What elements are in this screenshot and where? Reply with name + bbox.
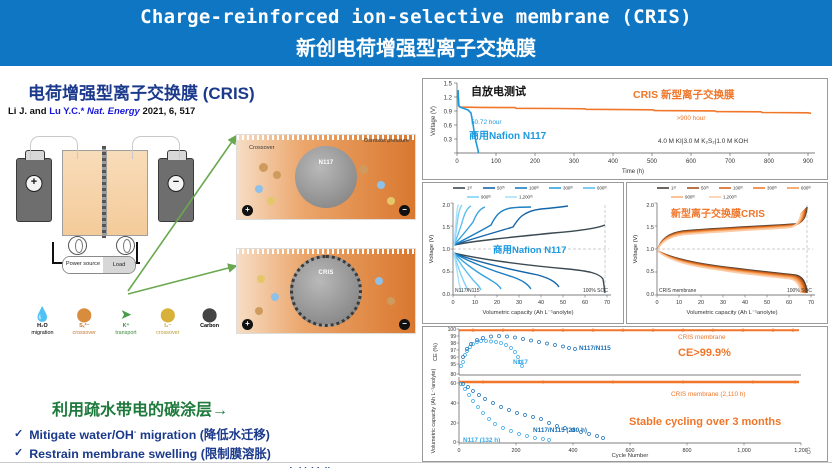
arrow-to-cris: [128, 266, 236, 294]
svg-text:2.0: 2.0: [442, 203, 450, 209]
corner-label: N117/N115: [455, 288, 480, 294]
svg-text:0: 0: [655, 300, 658, 306]
svg-text:50ᵗʰ: 50ᵗʰ: [497, 186, 505, 191]
self-discharge-title: 自放电测试: [471, 84, 526, 98]
left-column: 电荷增强型离子交换膜 (CRIS) Li J. and Lu Y.C.* Nat…: [0, 66, 418, 468]
list-item: ✓ Mitigate water/OH- migration (降低水迁移): [14, 426, 414, 445]
polysulfide-icon: ⬤: [68, 306, 101, 323]
svg-text:70: 70: [604, 300, 610, 306]
soc-label: 100% SOC: [787, 288, 812, 294]
ion-particle: [271, 293, 279, 301]
negative-marker: −: [399, 319, 410, 330]
chart-title-n117: 商用Nafion N117: [493, 244, 566, 256]
svg-text:99: 99: [450, 334, 456, 340]
ion-particle: [259, 163, 268, 172]
n117n115-capacity-label: N117/N115 (280 h): [533, 427, 587, 434]
y-axis-label: Voltage (V): [431, 106, 437, 136]
svg-text:96: 96: [450, 355, 456, 361]
bullet-text: Mitigate water/OH- migration (降低水迁移): [29, 426, 270, 445]
svg-text:100ᵗʰ: 100ᵗʰ: [529, 186, 539, 191]
legend-label-2: crossover: [156, 330, 179, 336]
positive-sign: +: [26, 175, 43, 192]
check-icon: ✓: [14, 426, 23, 443]
ion-particle: [255, 307, 263, 315]
svg-text:97: 97: [450, 348, 456, 354]
svg-text:0: 0: [455, 159, 459, 165]
y-axis-label: Voltage (V): [633, 235, 639, 264]
svg-text:70: 70: [808, 300, 814, 306]
svg-text:95: 95: [450, 362, 456, 368]
svg-text:400: 400: [569, 448, 578, 454]
positive-marker: +: [242, 319, 253, 330]
svg-text:900: 900: [803, 159, 814, 165]
chart-charge-discharge-n117: 2.01.51.0 0.50.0 01020 304050: [422, 182, 624, 324]
ion-particle: [257, 275, 265, 283]
stable-cycling-label: Stable cycling over 3 months: [629, 416, 781, 428]
svg-text:60: 60: [582, 300, 588, 306]
n117-capacity-label: N117 (132 h): [463, 437, 500, 444]
svg-text:20: 20: [450, 421, 456, 427]
n117-ce-label: N117: [513, 359, 528, 366]
svg-text:10: 10: [472, 300, 478, 306]
svg-text:0.0: 0.0: [646, 292, 654, 298]
svg-text:600: 600: [686, 159, 697, 165]
svg-text:1ˢᵗ: 1ˢᵗ: [467, 186, 472, 191]
legend-label-2: migration: [31, 330, 53, 336]
svg-text:30: 30: [720, 300, 726, 306]
svg-text:0.6: 0.6: [444, 124, 453, 130]
membrane-label: N117: [319, 160, 334, 166]
svg-text:0.5: 0.5: [646, 269, 654, 275]
wire-left-v: [52, 242, 54, 264]
svg-text:200: 200: [530, 159, 541, 165]
y-axis-label-capacity: Volumetric capacity (Ah L⁻¹anolyte): [431, 368, 437, 453]
svg-text:1,200ᵗʰ: 1,200ᵗʰ: [723, 195, 737, 200]
cris-label: CRIS 新型离子交换膜: [633, 88, 735, 101]
svg-text:2.0: 2.0: [646, 203, 654, 209]
svg-text:800: 800: [683, 448, 692, 454]
n117n115-ce-label: N117/N115: [579, 345, 611, 352]
svg-text:500: 500: [647, 159, 658, 165]
slide: Charge-reinforced ion-selective membrane…: [0, 0, 832, 468]
svg-text:20: 20: [494, 300, 500, 306]
electrolyte-label: 4.0 M KI|3.0 M K₂S₂|1.0 M KOH: [658, 138, 748, 145]
legend-label-2: transport: [115, 330, 136, 336]
svg-text:400: 400: [608, 159, 619, 165]
svg-text:300ᵗʰ: 300ᵗʰ: [767, 186, 777, 191]
legend-item-h2o: 💧 H₂O migration: [26, 306, 59, 337]
membrane-disc-cris: CRIS: [290, 255, 362, 327]
svg-text:0.5: 0.5: [442, 269, 450, 275]
legend: 1ˢᵗ 50ᵗʰ 100ᵗʰ 300ᵗʰ 600ᵗʰ 900ᵗʰ 1,200ᵗʰ: [453, 186, 607, 200]
membrane-disc-n117: N117: [295, 146, 357, 208]
micrograph-n117: N117 Crossover Osmosis pressure + −: [236, 134, 416, 220]
svg-text:0: 0: [458, 448, 461, 454]
svg-text:1.0: 1.0: [442, 247, 450, 253]
svg-text:40: 40: [538, 300, 544, 306]
ce-value: CE>99.9%: [678, 347, 731, 359]
citation-rest: 2021, 6, 517: [140, 106, 195, 117]
power-source-label: Power source: [63, 257, 103, 273]
anolyte-tank: +: [16, 158, 52, 222]
corner-label: CRIS membrane: [659, 288, 696, 294]
cd-cris-svg: 2.01.51.0 0.50.0 01020 304050: [627, 183, 825, 321]
svg-text:1ˢᵗ: 1ˢᵗ: [671, 186, 676, 191]
svg-text:1.0: 1.0: [646, 247, 654, 253]
legend: 1ˢᵗ 50ᵗʰ 100ᵗʰ 300ᵗʰ 600ᵗʰ 900ᵗʰ 1,200ᵗʰ: [657, 186, 811, 200]
right-column: 1.51.2 0.90.60.3 0100200 300400500 60070…: [422, 70, 826, 462]
svg-text:200: 200: [512, 448, 521, 454]
negative-marker: −: [399, 205, 410, 216]
nafion-hours: 50.72 hour: [471, 119, 502, 126]
y-axis-label: Voltage (V): [429, 235, 435, 264]
bullet-text: Facilitate full conversion of active spe…: [29, 465, 338, 468]
svg-text:900ᵗʰ: 900ᵗʰ: [685, 195, 695, 200]
svg-text:0.9: 0.9: [444, 110, 453, 116]
svg-text:50: 50: [764, 300, 770, 306]
legend-label-2: crossover: [73, 330, 96, 336]
svg-text:300ᵗʰ: 300ᵗʰ: [563, 186, 573, 191]
y-axis-label-ce: CE (%): [433, 343, 439, 361]
svg-text:700: 700: [725, 159, 736, 165]
svg-text:0.0: 0.0: [442, 292, 450, 298]
svg-text:100: 100: [491, 159, 502, 165]
osmosis-wave: [237, 249, 415, 254]
svg-text:100: 100: [448, 327, 457, 333]
ion-particle: [375, 277, 383, 285]
svg-text:60: 60: [450, 381, 456, 387]
svg-text:50: 50: [560, 300, 566, 306]
positive-marker: +: [242, 205, 253, 216]
x-axis-label: Time (h): [622, 169, 644, 175]
svg-text:0: 0: [451, 300, 454, 306]
membrane-label: CRIS: [318, 270, 333, 276]
svg-text:98: 98: [450, 341, 456, 347]
page-title-en: Charge-reinforced ion-selective membrane…: [0, 6, 832, 28]
svg-text:300: 300: [569, 159, 580, 165]
svg-text:1,200ᵗʰ: 1,200ᵗʰ: [519, 195, 533, 200]
arrow-group: [118, 126, 248, 326]
svg-text:40: 40: [742, 300, 748, 306]
svg-text:1.5: 1.5: [444, 82, 453, 88]
svg-text:80: 80: [450, 372, 456, 378]
cris-capacity-label: CRIS membrane (2,110 h): [671, 391, 745, 398]
bottom-divider: [0, 462, 832, 463]
svg-text:1.5: 1.5: [646, 225, 654, 231]
svg-text:40: 40: [450, 401, 456, 407]
svg-text:60: 60: [786, 300, 792, 306]
svg-text:1,000: 1,000: [737, 448, 751, 454]
svg-text:600ᵗʰ: 600ᵗʰ: [801, 186, 811, 191]
legend-item-sx: ⬤ Sₓ²⁻ crossover: [68, 306, 101, 337]
svg-text:10: 10: [676, 300, 682, 306]
micrograph-cris: CRIS + −: [236, 248, 416, 334]
svg-text:1.5: 1.5: [442, 225, 450, 231]
ion-particle: [359, 165, 368, 174]
svg-text:0.3: 0.3: [444, 138, 453, 144]
green-heading: 利用疏水带电的碳涂层→: [52, 396, 228, 420]
ion-particle: [267, 197, 275, 205]
svg-text:30: 30: [516, 300, 522, 306]
check-icon: ✓: [14, 445, 23, 462]
svg-text:20: 20: [698, 300, 704, 306]
pump-left: [68, 236, 87, 255]
svg-text:900ᵗʰ: 900ᵗʰ: [481, 195, 491, 200]
svg-text:1.2: 1.2: [444, 96, 453, 102]
soc-label: 100% SOC: [583, 288, 608, 294]
self-discharge-svg: 1.51.2 0.90.60.3 0100200 300400500 60070…: [423, 79, 825, 177]
citation: Li J. and Lu Y.C.* Nat. Energy 2021, 6, …: [8, 106, 195, 117]
page-title-cn: 新创电荷增强型离子交换膜: [0, 32, 832, 61]
citation-authors-b: Lu Y.C.*: [49, 106, 84, 117]
chart-self-discharge: 1.51.2 0.90.60.3 0100200 300400500 60070…: [422, 78, 828, 180]
svg-text:100ᵗʰ: 100ᵗʰ: [733, 186, 743, 191]
section-title: 电荷增强型离子交换膜 (CRIS): [28, 79, 255, 104]
ion-particle: [387, 197, 395, 205]
citation-authors-a: Li J. and: [8, 106, 49, 117]
svg-text:800: 800: [764, 159, 775, 165]
svg-text:50ᵗʰ: 50ᵗʰ: [701, 186, 709, 191]
arrow-to-n117: [128, 136, 236, 291]
citation-journal: Nat. Energy: [87, 106, 140, 117]
legend-label-1: H₂O: [26, 323, 59, 330]
cris-hours: >900 hour: [677, 115, 707, 122]
ion-particle: [377, 181, 385, 189]
osmosis-label: Osmosis pressure: [364, 138, 409, 144]
svg-text:0: 0: [453, 440, 456, 446]
ion-particle: [273, 171, 281, 179]
anolyte-half: [62, 150, 104, 236]
list-item: ✓ Facilitate full conversion of active s…: [14, 465, 414, 468]
chart-title-cris: 新型离子交换膜CRIS: [671, 207, 765, 220]
x-axis-label: Volumetric capacity (Ah L⁻¹anolyte): [482, 310, 573, 316]
nafion-label: 商用Nafion N117: [469, 129, 547, 142]
membrane-layer: [102, 146, 106, 238]
x-axis-label: Volumetric capacity (Ah L⁻¹anolyte): [686, 310, 777, 316]
cycling-svg: 1009998 979695 80 CE (%): [423, 327, 825, 459]
ion-particle: [255, 185, 263, 193]
tube-left: [30, 136, 78, 159]
x-axis-label: Cycle Number: [612, 453, 649, 459]
slide-header: Charge-reinforced ion-selective membrane…: [0, 0, 832, 66]
chart-cycling: 1009998 979695 80 CE (%): [422, 326, 828, 462]
page-number: 6: [806, 446, 811, 456]
legend-label-1: Sₓ²⁻: [68, 323, 101, 330]
water-icon: 💧: [26, 306, 59, 323]
ion-particle: [387, 297, 395, 305]
cd-n117-svg: 2.01.51.0 0.50.0 01020 304050: [423, 183, 621, 321]
svg-text:600ᵗʰ: 600ᵗʰ: [597, 186, 607, 191]
crossover-label: Crossover: [249, 145, 275, 151]
chart-charge-discharge-cris: 2.01.51.0 0.50.0 01020 304050: [626, 182, 828, 324]
cris-ce-label: CRIS membrane: [678, 334, 726, 341]
check-icon: ✓: [14, 465, 23, 468]
